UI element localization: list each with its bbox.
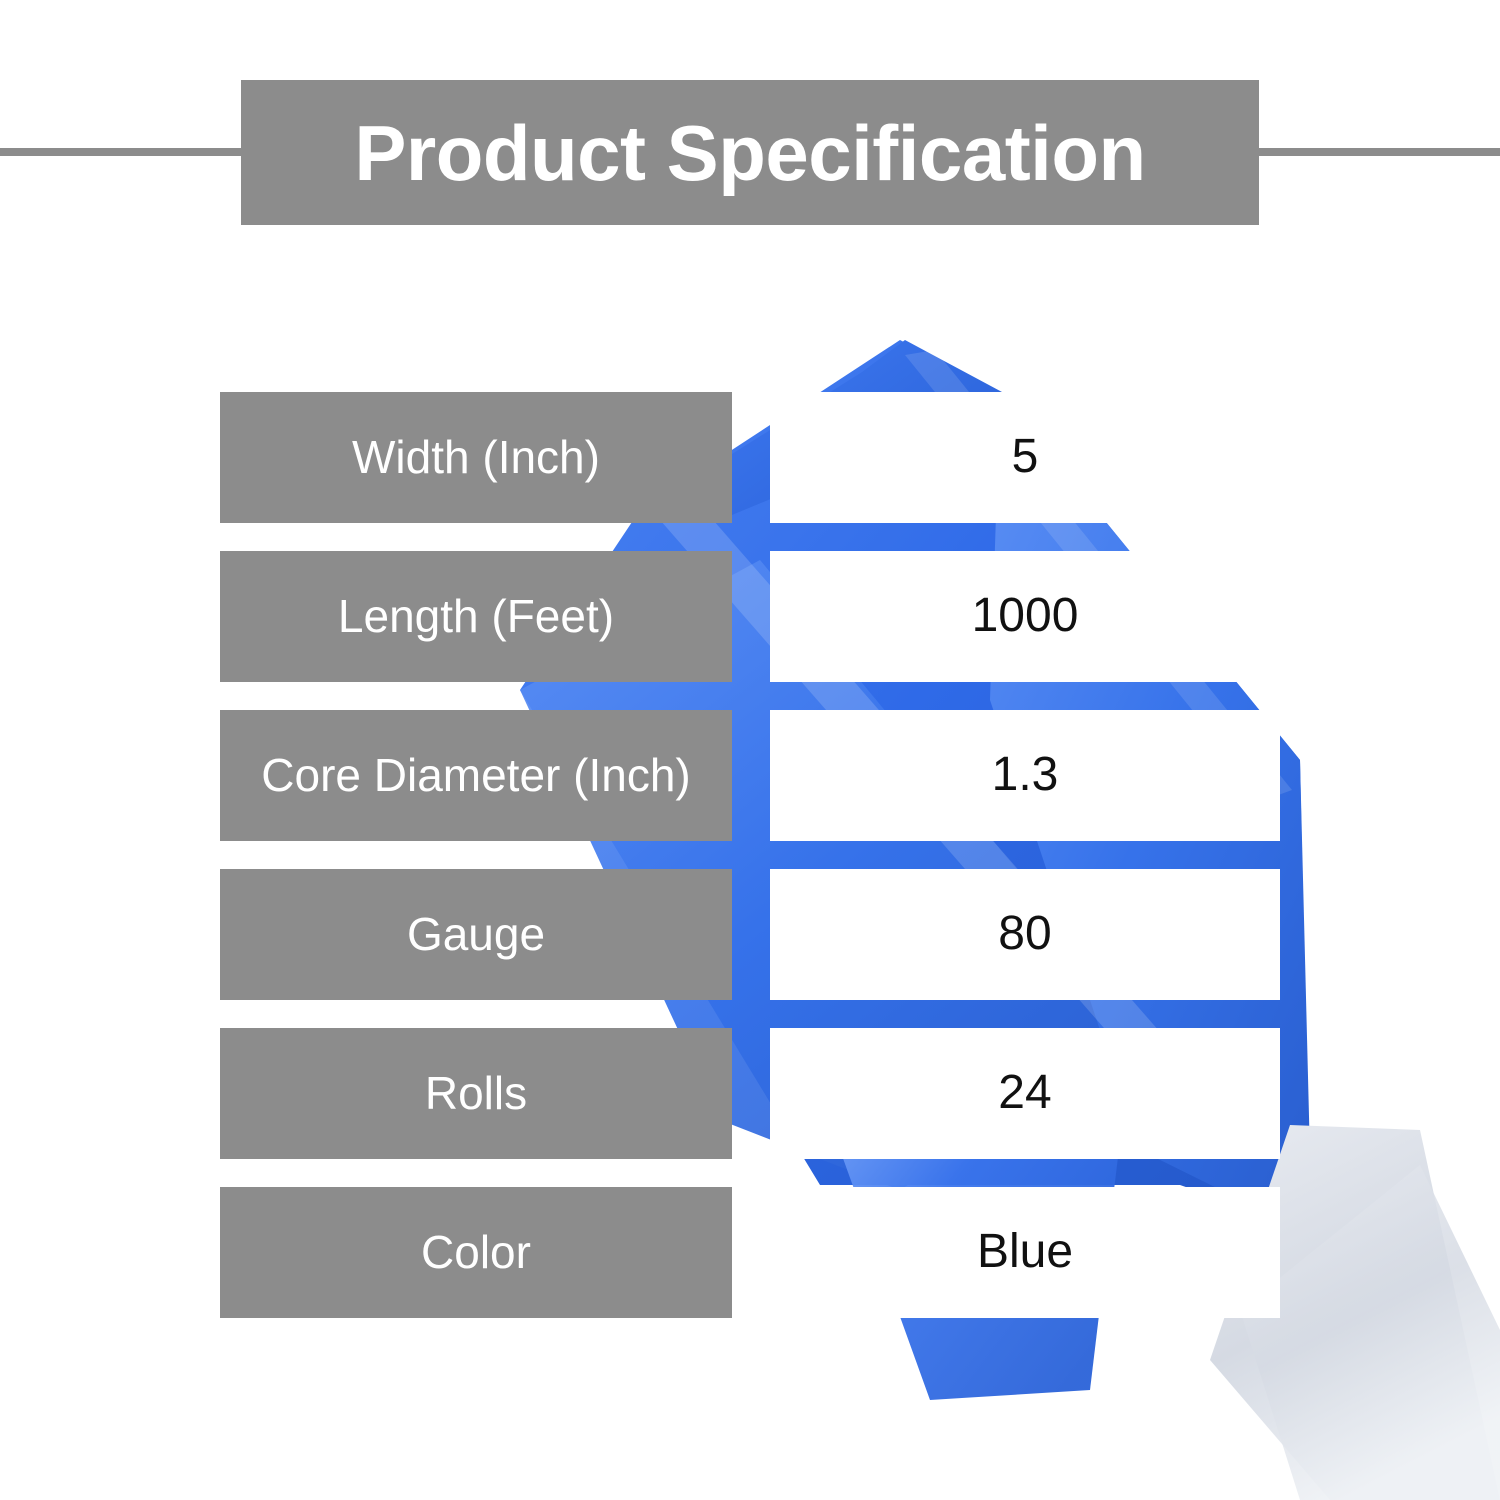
- spec-label: Length (Feet): [220, 551, 732, 682]
- spec-label: Color: [220, 1187, 732, 1318]
- spec-value: 80: [770, 869, 1280, 1000]
- spec-label: Rolls: [220, 1028, 732, 1159]
- spec-label: Core Diameter (Inch): [220, 710, 732, 841]
- spec-value: 1.3: [770, 710, 1280, 841]
- spec-label: Gauge: [220, 869, 732, 1000]
- spec-value: Blue: [770, 1187, 1280, 1318]
- infographic-canvas: Product Specification: [0, 0, 1500, 1500]
- spec-value: 1000: [770, 551, 1280, 682]
- spec-label: Width (Inch): [220, 392, 732, 523]
- spec-value: 5: [770, 392, 1280, 523]
- spec-value: 24: [770, 1028, 1280, 1159]
- spec-table: Width (Inch) 5 Length (Feet) 1000 Core D…: [0, 0, 1500, 1500]
